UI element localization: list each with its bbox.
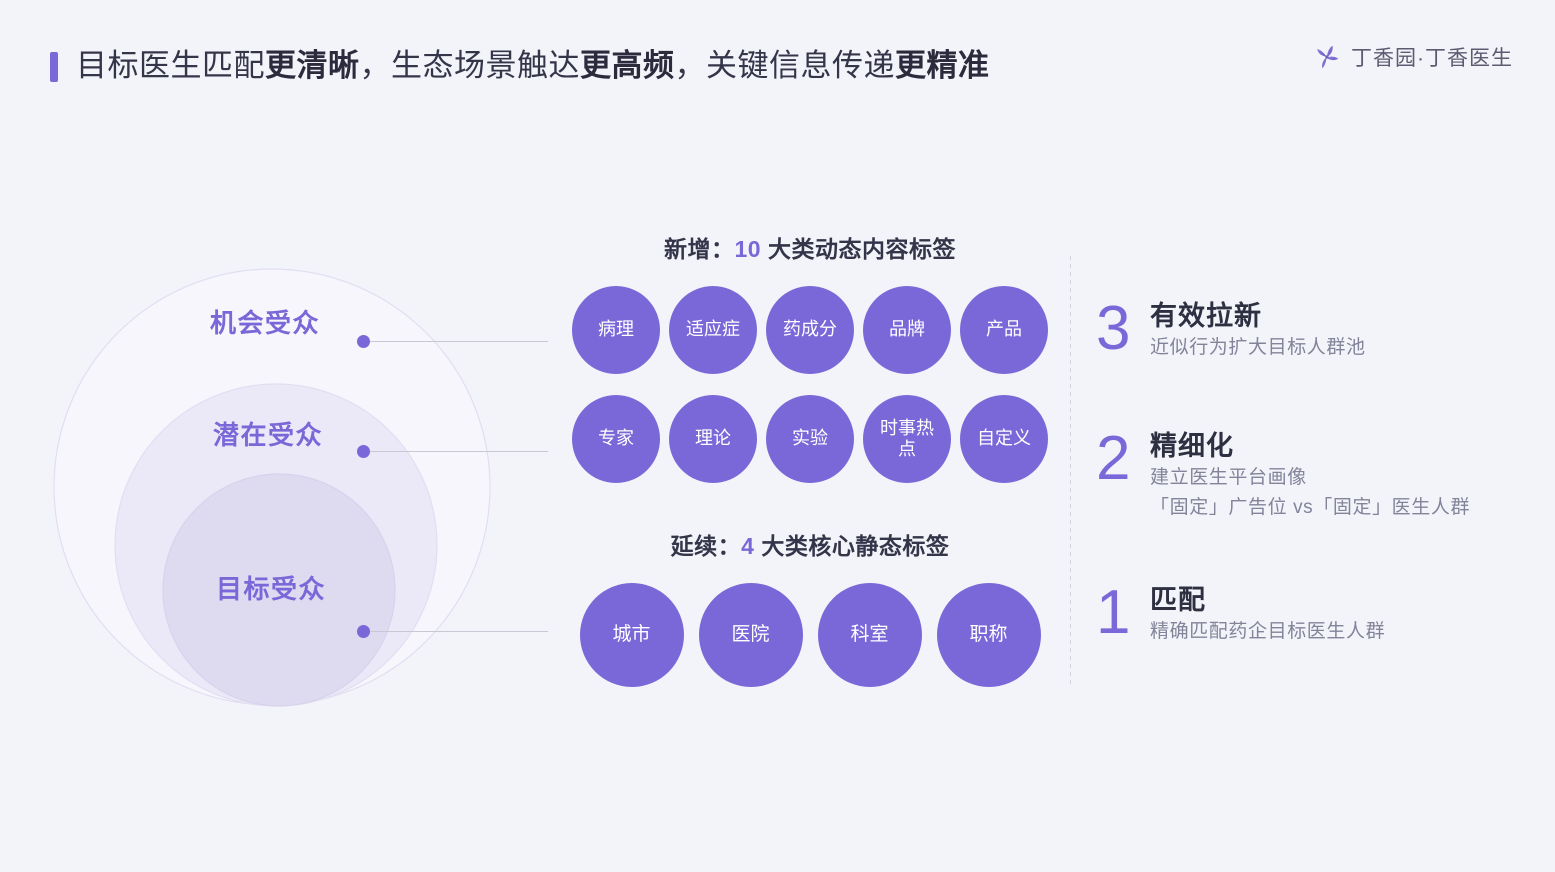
tag-group-heading-static: 延续：4 大类核心静态标签	[560, 527, 1060, 561]
venn-circles	[0, 0, 580, 760]
tag-bubble[interactable]: 医院	[699, 583, 803, 687]
tag-label: 理论	[681, 428, 745, 449]
tag-label: 药成分	[769, 319, 851, 340]
tag-row-dynamic-2: 专家 理论 实验 时事热点 自定义	[560, 395, 1060, 483]
tag-bubble[interactable]: 产品	[960, 286, 1048, 374]
benefit-item-2: 2 精细化 建立医生平台画像 「固定」广告位 vs「固定」医生人群	[1096, 428, 1470, 523]
leader-line-opportunity	[370, 341, 548, 342]
butterfly-logo-icon	[1312, 42, 1342, 72]
leader-line-target	[370, 631, 548, 632]
tag-bubble[interactable]: 药成分	[766, 286, 854, 374]
heading-prefix-dynamic: 新增：	[664, 236, 735, 262]
benefit-title: 匹配	[1150, 584, 1385, 617]
tag-label: 时事热点	[863, 418, 951, 460]
benefit-description: 近似行为扩大目标人群池	[1150, 333, 1366, 363]
ring-label-opportunity: 机会受众	[210, 303, 320, 340]
tag-label: 专家	[584, 428, 648, 449]
tag-groups: 新增：10 大类动态内容标签 病理 适应症 药成分 品牌 产品 专家 理论 实验…	[560, 230, 1060, 687]
heading-number-static: 4	[741, 533, 754, 559]
tag-label: 自定义	[963, 428, 1045, 449]
ring-label-potential: 潜在受众	[213, 415, 323, 452]
tag-label: 适应症	[672, 319, 754, 340]
tag-row-dynamic-1: 病理 适应症 药成分 品牌 产品	[560, 286, 1060, 374]
brand-logo: 丁香园·丁香医生	[1312, 42, 1513, 72]
tag-label: 医院	[717, 624, 783, 646]
tag-label: 产品	[972, 319, 1036, 340]
leader-dot-target	[357, 625, 370, 638]
tag-bubble[interactable]: 实验	[766, 395, 854, 483]
benefit-item-1: 1 匹配 精确匹配药企目标医生人群	[1096, 582, 1385, 647]
page-title-part-4: ，关键信息传递	[675, 48, 896, 83]
tag-bubble[interactable]: 专家	[572, 395, 660, 483]
benefit-title: 有效拉新	[1150, 300, 1366, 333]
tag-group-heading-dynamic: 新增：10 大类动态内容标签	[560, 230, 1060, 264]
tag-bubble[interactable]: 品牌	[863, 286, 951, 374]
tag-label: 科室	[836, 624, 902, 646]
benefit-number: 3	[1096, 298, 1144, 360]
heading-number-dynamic: 10	[735, 236, 762, 262]
leader-line-potential	[370, 451, 548, 452]
tag-label: 品牌	[875, 319, 939, 340]
ring-label-target: 目标受众	[216, 569, 326, 606]
leader-dot-opportunity	[357, 335, 370, 348]
benefit-number: 2	[1096, 428, 1144, 490]
heading-suffix-dynamic: 大类动态内容标签	[761, 236, 956, 262]
tag-label: 实验	[778, 428, 842, 449]
tag-label: 城市	[598, 624, 664, 646]
tag-bubble[interactable]: 理论	[669, 395, 757, 483]
tag-bubble[interactable]: 自定义	[960, 395, 1048, 483]
tag-bubble[interactable]: 适应症	[669, 286, 757, 374]
heading-suffix-static: 大类核心静态标签	[754, 533, 949, 559]
tag-bubble[interactable]: 时事热点	[863, 395, 951, 483]
audience-venn: 机会受众 潜在受众 目标受众	[0, 0, 580, 520]
leader-dot-potential	[357, 445, 370, 458]
section-divider	[1070, 256, 1071, 686]
benefit-title: 精细化	[1150, 430, 1470, 463]
tag-row-static-1: 城市 医院 科室 职称	[560, 583, 1060, 687]
tag-bubble[interactable]: 病理	[572, 286, 660, 374]
tag-bubble[interactable]: 城市	[580, 583, 684, 687]
tag-bubble[interactable]: 职称	[937, 583, 1041, 687]
benefit-description: 建立医生平台画像	[1150, 463, 1470, 493]
page-title-part-3: 更高频	[580, 48, 675, 83]
benefit-description-secondary: 「固定」广告位 vs「固定」医生人群	[1150, 493, 1470, 523]
brand-name: 丁香园·丁香医生	[1351, 42, 1513, 72]
heading-prefix-static: 延续：	[671, 533, 742, 559]
tag-label: 职称	[955, 624, 1021, 646]
benefit-number: 1	[1096, 582, 1144, 644]
benefit-item-3: 3 有效拉新 近似行为扩大目标人群池	[1096, 298, 1366, 363]
tag-label: 病理	[584, 319, 648, 340]
benefit-description: 精确匹配药企目标医生人群	[1150, 617, 1385, 647]
tag-bubble[interactable]: 科室	[818, 583, 922, 687]
page-title-part-5: 更精准	[895, 48, 990, 83]
